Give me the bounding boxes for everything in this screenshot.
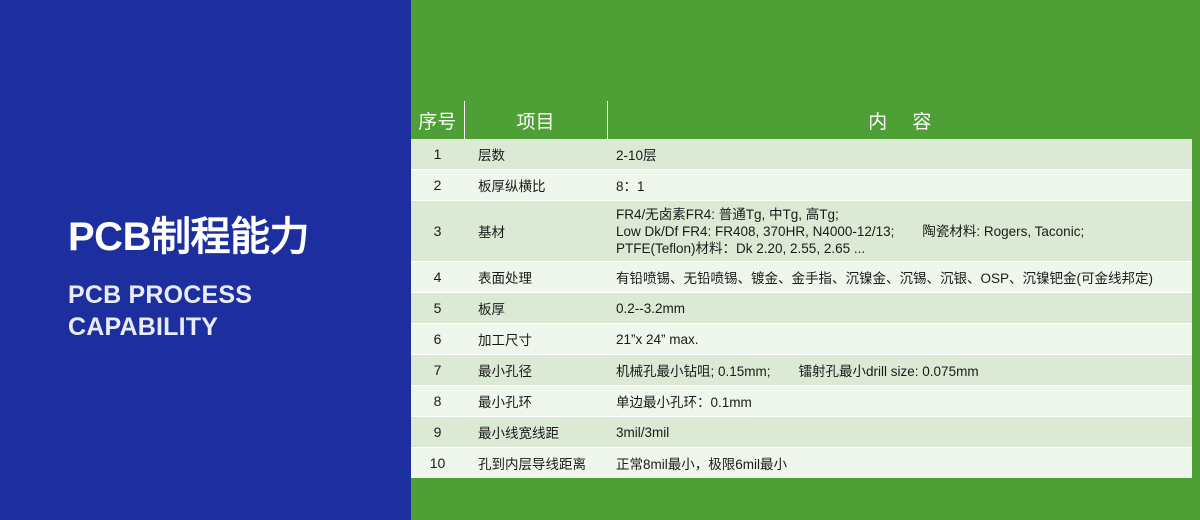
row-content: 21”x 24” max. — [607, 324, 1192, 355]
row-number: 6 — [411, 324, 464, 355]
row-content-line-3: PTFE(Teflon)材料：Dk 2.20, 2.55, 2.65 ... — [616, 240, 1192, 257]
row-number: 9 — [411, 417, 464, 448]
table-header: 序号 项目 内 容 — [411, 101, 1192, 139]
left-blue-panel: PCB制程能力 PCB PROCESS CAPABILITY — [0, 0, 411, 520]
row-content: 0.2--3.2mm — [607, 293, 1192, 324]
table-row: 5 板厚 0.2--3.2mm — [411, 293, 1192, 324]
row-item: 表面处理 — [464, 262, 607, 293]
row-content-line-1: FR4/无卤素FR4: 普通Tg, 中Tg, 高Tg; — [616, 206, 1192, 223]
row-item: 最小孔环 — [464, 386, 607, 417]
table-row: 4 表面处理 有铅喷锡、无铅喷锡、镀金、金手指、沉镍金、沉锡、沉银、OSP、沉镍… — [411, 262, 1192, 293]
row-content: 2-10层 — [607, 139, 1192, 170]
table-row: 8 最小孔环 单边最小孔环：0.1mm — [411, 386, 1192, 417]
row-number: 10 — [411, 448, 464, 479]
row-number: 5 — [411, 293, 464, 324]
row-content-extra: 镭射孔最小drill size: 0.075mm — [799, 364, 979, 379]
page-subtitle-line-2: CAPABILITY — [68, 311, 398, 343]
row-item: 加工尺寸 — [464, 324, 607, 355]
row-item: 最小孔径 — [464, 355, 607, 386]
slide-canvas: PCB制程能力 PCB PROCESS CAPABILITY 序号 项目 内 容 — [0, 0, 1200, 520]
table-row: 10 孔到内层导线距离 正常8mil最小，极限6mil最小 — [411, 448, 1192, 479]
table-row: 9 最小线宽线距 3mil/3mil — [411, 417, 1192, 448]
table-body: 1 层数 2-10层 2 板厚纵横比 8：1 3 基材 FR4/无卤素FR4: … — [411, 139, 1192, 478]
column-header-content-label: 内 容 — [858, 112, 941, 133]
row-content: FR4/无卤素FR4: 普通Tg, 中Tg, 高Tg; Low Dk/Df FR… — [607, 201, 1192, 262]
row-content-line-2: Low Dk/Df FR4: FR408, 370HR, N4000-12/13… — [616, 223, 1192, 240]
pcb-capability-table: 序号 项目 内 容 1 层数 2-10层 2 板厚纵横比 8：1 — [411, 101, 1192, 478]
row-content: 8：1 — [607, 170, 1192, 201]
row-number: 4 — [411, 262, 464, 293]
row-number: 2 — [411, 170, 464, 201]
row-item: 板厚纵横比 — [464, 170, 607, 201]
row-item: 基材 — [464, 201, 607, 262]
column-header-content: 内 容 — [607, 101, 1192, 139]
column-header-no: 序号 — [411, 101, 464, 139]
row-item: 孔到内层导线距离 — [464, 448, 607, 479]
row-number: 7 — [411, 355, 464, 386]
row-number: 1 — [411, 139, 464, 170]
row-number: 3 — [411, 201, 464, 262]
row-content-line-2-main: Low Dk/Df FR4: FR408, 370HR, N4000-12/13… — [616, 224, 894, 239]
row-content: 3mil/3mil — [607, 417, 1192, 448]
page-subtitle-line-1: PCB PROCESS — [68, 279, 398, 311]
row-item: 最小线宽线距 — [464, 417, 607, 448]
table-row: 1 层数 2-10层 — [411, 139, 1192, 170]
title-block: PCB制程能力 PCB PROCESS CAPABILITY — [68, 213, 398, 343]
row-item: 板厚 — [464, 293, 607, 324]
row-item: 层数 — [464, 139, 607, 170]
page-subtitle: PCB PROCESS CAPABILITY — [68, 279, 398, 343]
row-content: 单边最小孔环：0.1mm — [607, 386, 1192, 417]
table-row: 3 基材 FR4/无卤素FR4: 普通Tg, 中Tg, 高Tg; Low Dk/… — [411, 201, 1192, 262]
row-content-main: 机械孔最小钻咀; 0.15mm; — [616, 364, 771, 379]
row-content: 机械孔最小钻咀; 0.15mm;镭射孔最小drill size: 0.075mm — [607, 355, 1192, 386]
spec-table-container: 序号 项目 内 容 1 层数 2-10层 2 板厚纵横比 8：1 — [411, 101, 1192, 445]
table-header-row: 序号 项目 内 容 — [411, 101, 1192, 139]
table-row: 6 加工尺寸 21”x 24” max. — [411, 324, 1192, 355]
table-row: 7 最小孔径 机械孔最小钻咀; 0.15mm;镭射孔最小drill size: … — [411, 355, 1192, 386]
table-row: 2 板厚纵横比 8：1 — [411, 170, 1192, 201]
column-header-item: 项目 — [464, 101, 607, 139]
row-number: 8 — [411, 386, 464, 417]
row-content-line-2-extra: 陶瓷材料: Rogers, Taconic; — [922, 224, 1084, 239]
row-content: 正常8mil最小，极限6mil最小 — [607, 448, 1192, 479]
row-content: 有铅喷锡、无铅喷锡、镀金、金手指、沉镍金、沉锡、沉银、OSP、沉镍钯金(可金线邦… — [607, 262, 1192, 293]
page-title: PCB制程能力 — [68, 213, 398, 261]
